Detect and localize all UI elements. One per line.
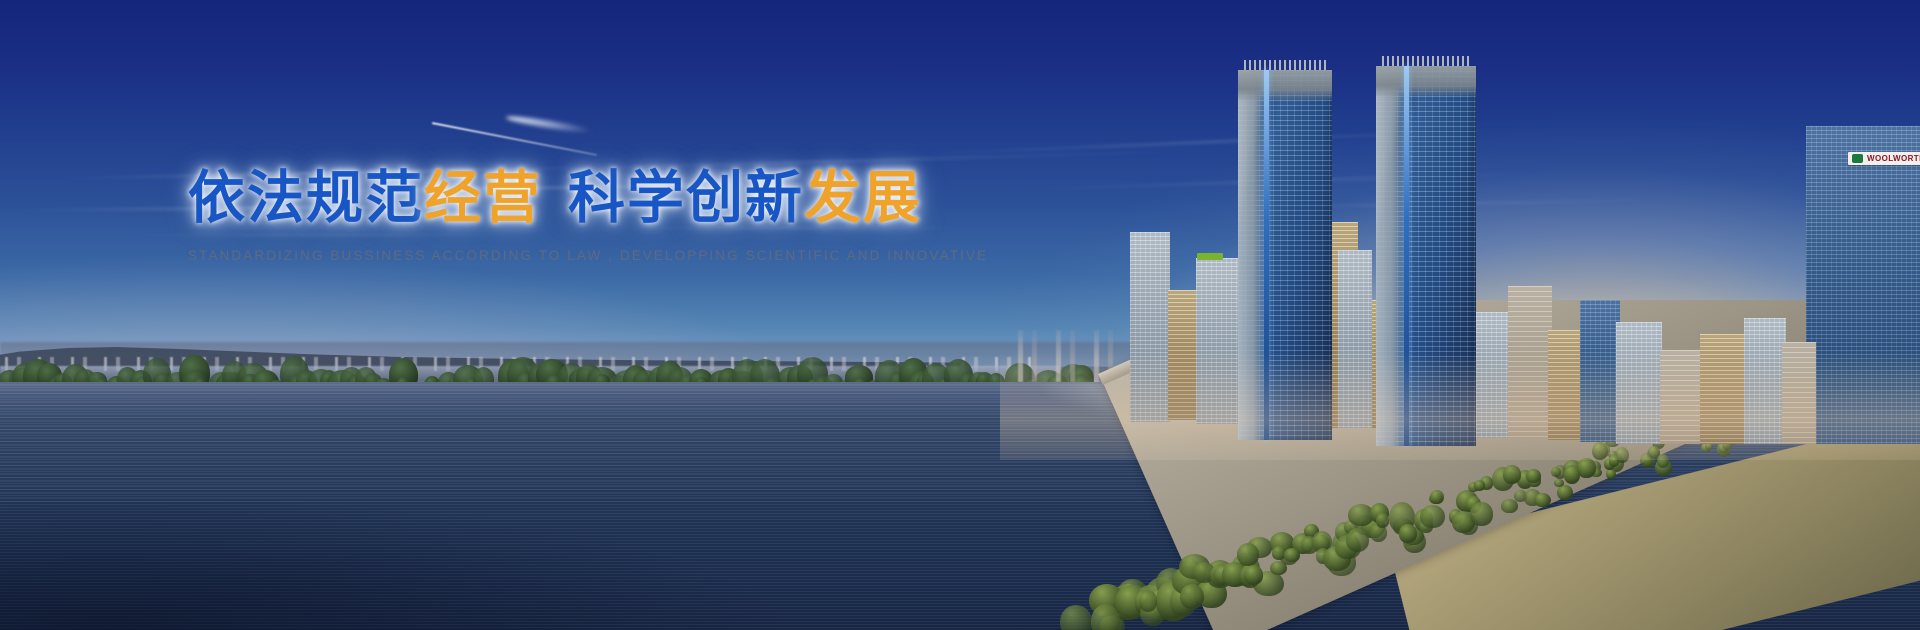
glass-tower-right [1376,66,1476,446]
headline-part1-gold: 经营 [424,165,542,231]
tower-right-crown [1376,66,1476,98]
tree [1376,513,1390,528]
tree [1557,485,1573,501]
tower-left-crown [1238,70,1332,102]
woolworths-logo-icon [1852,154,1863,163]
building-right-b [1508,286,1552,438]
building-right-e [1616,322,1662,444]
tree [1503,465,1520,483]
tower-left-spine [1264,70,1269,440]
building-farright-a [1660,350,1700,444]
building-farright-c [1744,318,1786,444]
glass-tower-left [1238,70,1332,440]
tower-left-fin [1238,70,1264,440]
tree [1180,584,1203,609]
rooftop-sign-green [1197,253,1223,260]
tree [1470,502,1492,525]
headline-part1-blue: 依法规范 [188,165,424,231]
building-woolworths [1806,126,1920,444]
headline-part2-gold: 发展 [804,165,922,231]
tower-right-fin [1376,66,1404,446]
headline: 依法规范经营科学创新发展 [188,168,948,228]
tree [1139,590,1157,611]
tower-right-spine [1404,66,1409,446]
building-midrise-a [1130,232,1170,422]
hero-banner: WOOLWORTHS 依法规范经营科学创新发展 STANDARDIZING BU… [0,0,1920,630]
tree [1526,469,1541,483]
tree [1060,605,1092,630]
banner-copy: 依法规范经营科学创新发展 STANDARDIZING BUSSINESS ACC… [188,168,948,263]
building-right-d [1580,300,1620,442]
woolworths-sign: WOOLWORTHS [1848,152,1920,165]
tree [1237,543,1259,566]
tree [1606,469,1616,478]
tree [1284,548,1301,561]
tree [1648,446,1660,458]
tree [1609,455,1619,466]
building-farright-d [1782,342,1816,444]
tree [1420,505,1444,529]
tree [1577,458,1596,477]
building-midrise-c [1196,258,1242,424]
tree [1399,524,1417,542]
tree [1554,479,1564,487]
building-between-b [1338,250,1372,428]
tree [1270,561,1287,576]
tree [1346,528,1369,552]
tree [1501,499,1518,512]
tree [1244,565,1263,585]
building-midrise-b [1168,290,1198,420]
building-farright-b [1700,334,1746,444]
woolworths-sign-label: WOOLWORTHS [1867,154,1920,163]
subheadline: STANDARDIZING BUSSINESS ACCORDING TO LAW… [188,248,948,263]
building-right-c [1548,330,1584,440]
headline-part2-blue: 科学创新 [568,165,804,231]
tree [1534,493,1551,508]
building-right-a [1476,312,1510,438]
tree [1430,490,1444,504]
water-vignette [0,460,1056,630]
